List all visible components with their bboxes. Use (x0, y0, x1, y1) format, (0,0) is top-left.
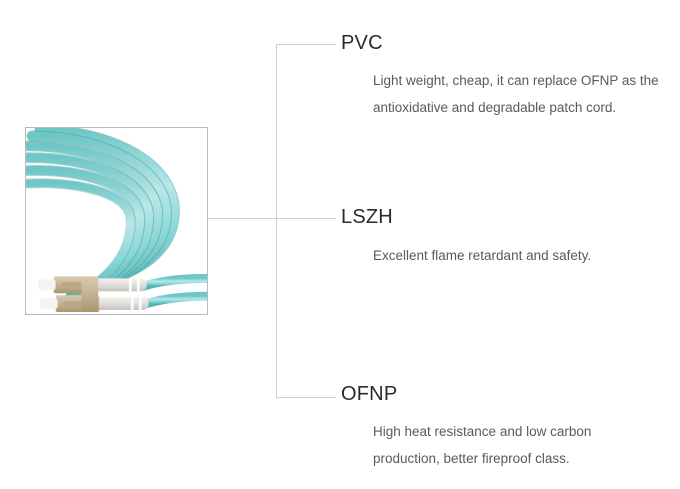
callout-pvc-body: Light weight, cheap, it can replace OFNP… (341, 67, 673, 121)
callout-ofnp-heading: OFNP (341, 383, 671, 405)
callout-pvc: PVC Light weight, cheap, it can replace … (341, 32, 671, 121)
callout-lszh-heading: LSZH (341, 206, 671, 228)
leader-line-lszh (208, 218, 336, 219)
callout-ofnp: OFNP High heat resistance and low carbon… (341, 383, 671, 472)
fiber-patch-cord-photo (26, 128, 207, 314)
callout-lszh-body: Excellent flame retardant and safety. (341, 242, 673, 269)
callout-pvc-heading: PVC (341, 32, 671, 54)
leader-line-pvc (276, 44, 336, 45)
callout-lszh: LSZH Excellent flame retardant and safet… (341, 206, 671, 269)
callout-ofnp-body: High heat resistance and low carbon prod… (341, 418, 653, 472)
leader-line-ofnp (276, 397, 336, 398)
product-image-frame (25, 127, 208, 315)
leader-line-spine (276, 44, 277, 398)
